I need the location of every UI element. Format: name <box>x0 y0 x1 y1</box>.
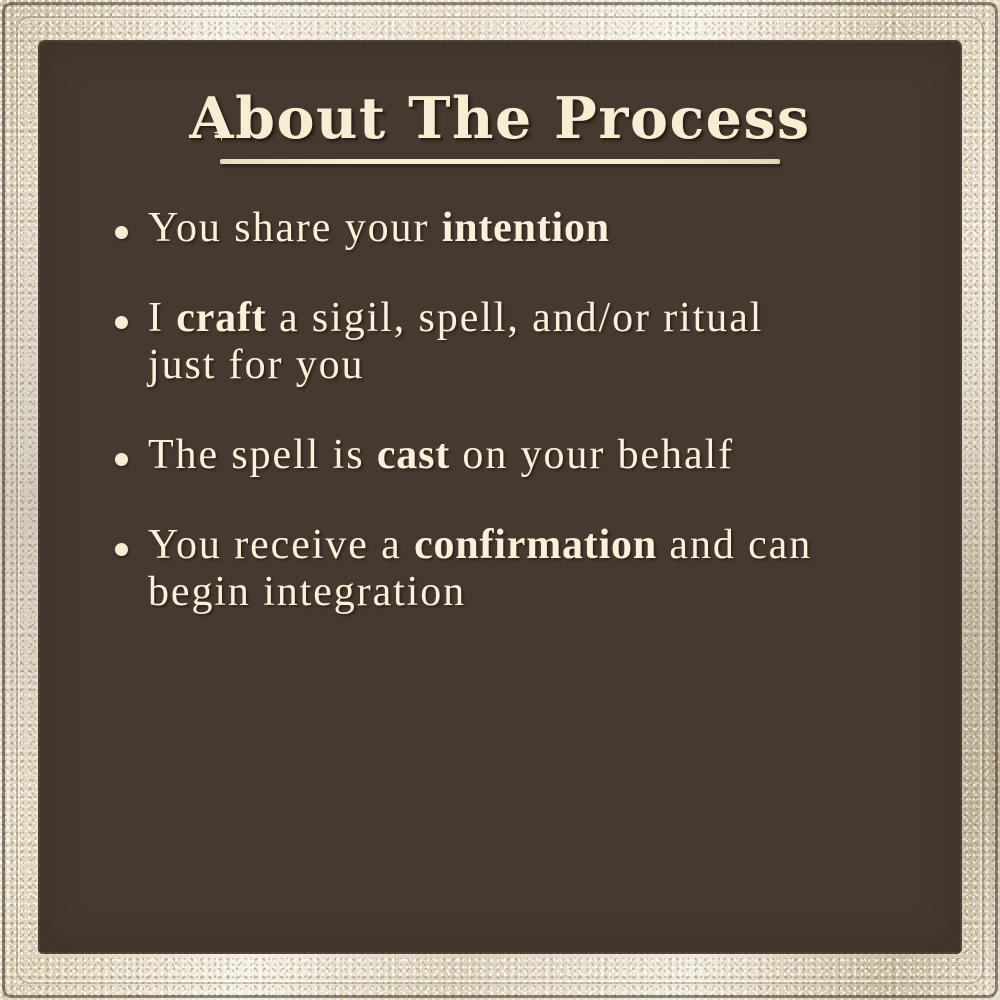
page-title-text: About The Process <box>189 85 810 152</box>
list-item: You receive a confirmation and can begin… <box>148 522 838 616</box>
list-item-text: You receive a confirmation and can begin… <box>148 522 812 615</box>
list-item-text: The spell is cast on your behalf <box>148 432 734 478</box>
bullet-dot-icon <box>115 316 128 329</box>
bullet-dot-icon <box>115 543 128 556</box>
process-steps-list: You share your intention I craft a sigil… <box>40 164 960 616</box>
info-card: About The Process You share your intenti… <box>0 0 1000 1000</box>
content-panel: About The Process You share your intenti… <box>40 42 960 952</box>
bullet-dot-icon <box>115 453 128 466</box>
list-item-text: I craft a sigil, spell, and/or ritual ju… <box>148 295 763 388</box>
list-item: The spell is cast on your behalf <box>148 432 838 479</box>
list-item-text: You share your intention <box>148 205 610 251</box>
list-item: You share your intention <box>148 205 838 252</box>
list-item: I craft a sigil, spell, and/or ritual ju… <box>148 295 838 389</box>
bullet-dot-icon <box>115 226 128 239</box>
page-title: About The Process <box>189 90 810 148</box>
title-block: About The Process <box>40 90 960 164</box>
